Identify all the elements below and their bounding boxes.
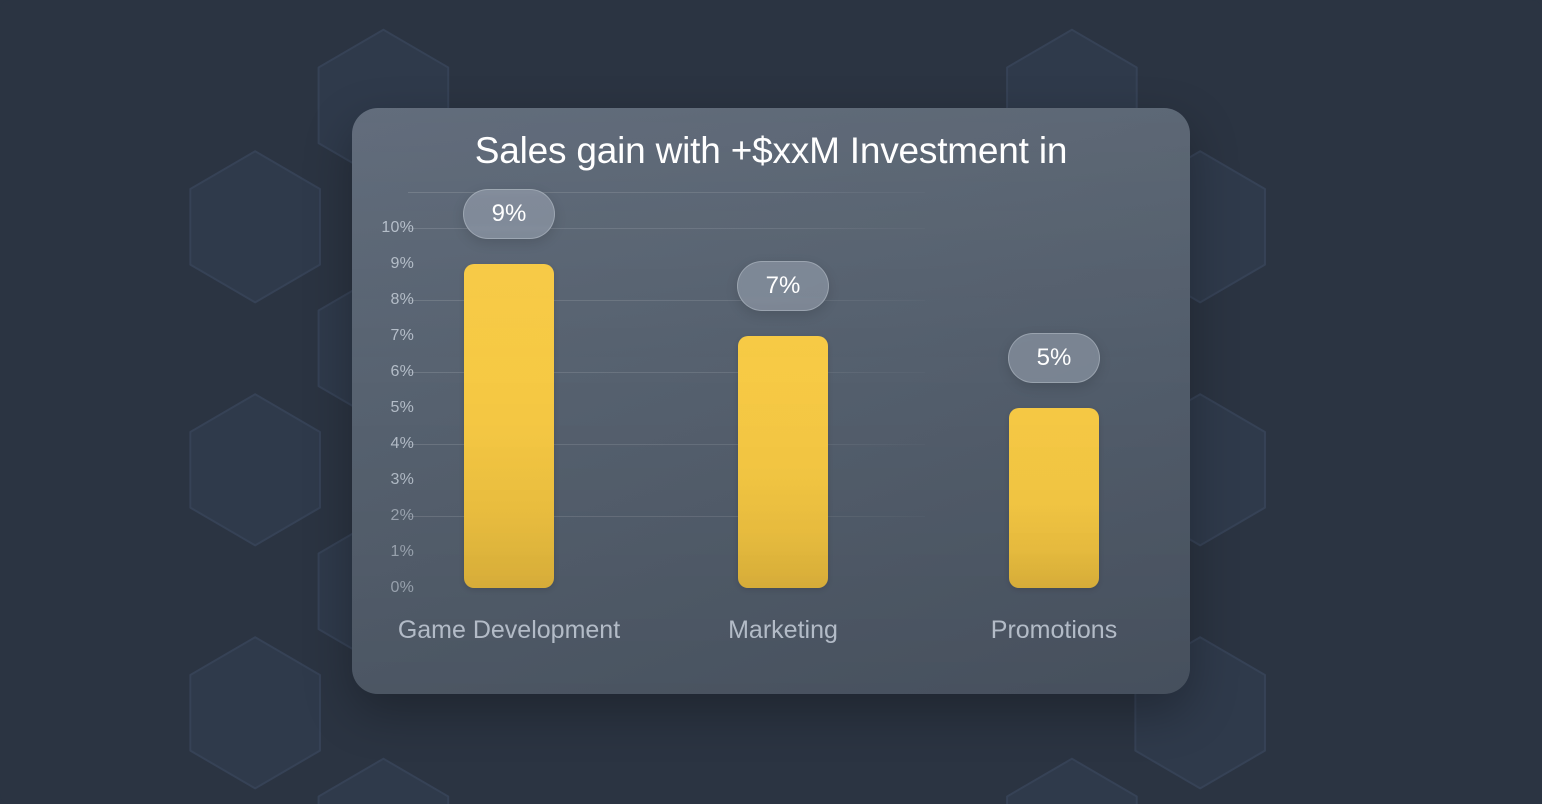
bar[interactable] <box>1009 408 1099 588</box>
bar[interactable] <box>738 336 828 588</box>
bar-value-pill: 9% <box>463 189 555 239</box>
y-axis-tick-label: 10% <box>374 219 414 237</box>
y-axis-tick-label: 1% <box>374 543 414 561</box>
y-axis-tick-label: 7% <box>374 327 414 345</box>
y-axis-tick-label: 9% <box>374 255 414 273</box>
y-axis-tick-label: 4% <box>374 435 414 453</box>
chart-card: Sales gain with +$xxM Investment in 10%9… <box>352 108 1190 694</box>
x-axis-category-label: Marketing <box>668 613 898 647</box>
plot-area: 10%9%8%7%6%5%4%3%2%1%0%9%Game Developmen… <box>352 108 1190 694</box>
y-axis-tick-label: 0% <box>374 579 414 597</box>
bar[interactable] <box>464 264 554 588</box>
x-axis-category-label: Promotions <box>939 613 1169 647</box>
y-axis-tick-label: 8% <box>374 291 414 309</box>
y-axis-tick-label: 3% <box>374 471 414 489</box>
y-axis-tick-label: 6% <box>374 363 414 381</box>
y-axis-tick-label: 2% <box>374 507 414 525</box>
x-axis-category-label: Game Development <box>394 613 624 647</box>
bar-value-pill: 5% <box>1008 333 1100 383</box>
y-axis-tick-label: 5% <box>374 399 414 417</box>
bar-value-pill: 7% <box>737 261 829 311</box>
